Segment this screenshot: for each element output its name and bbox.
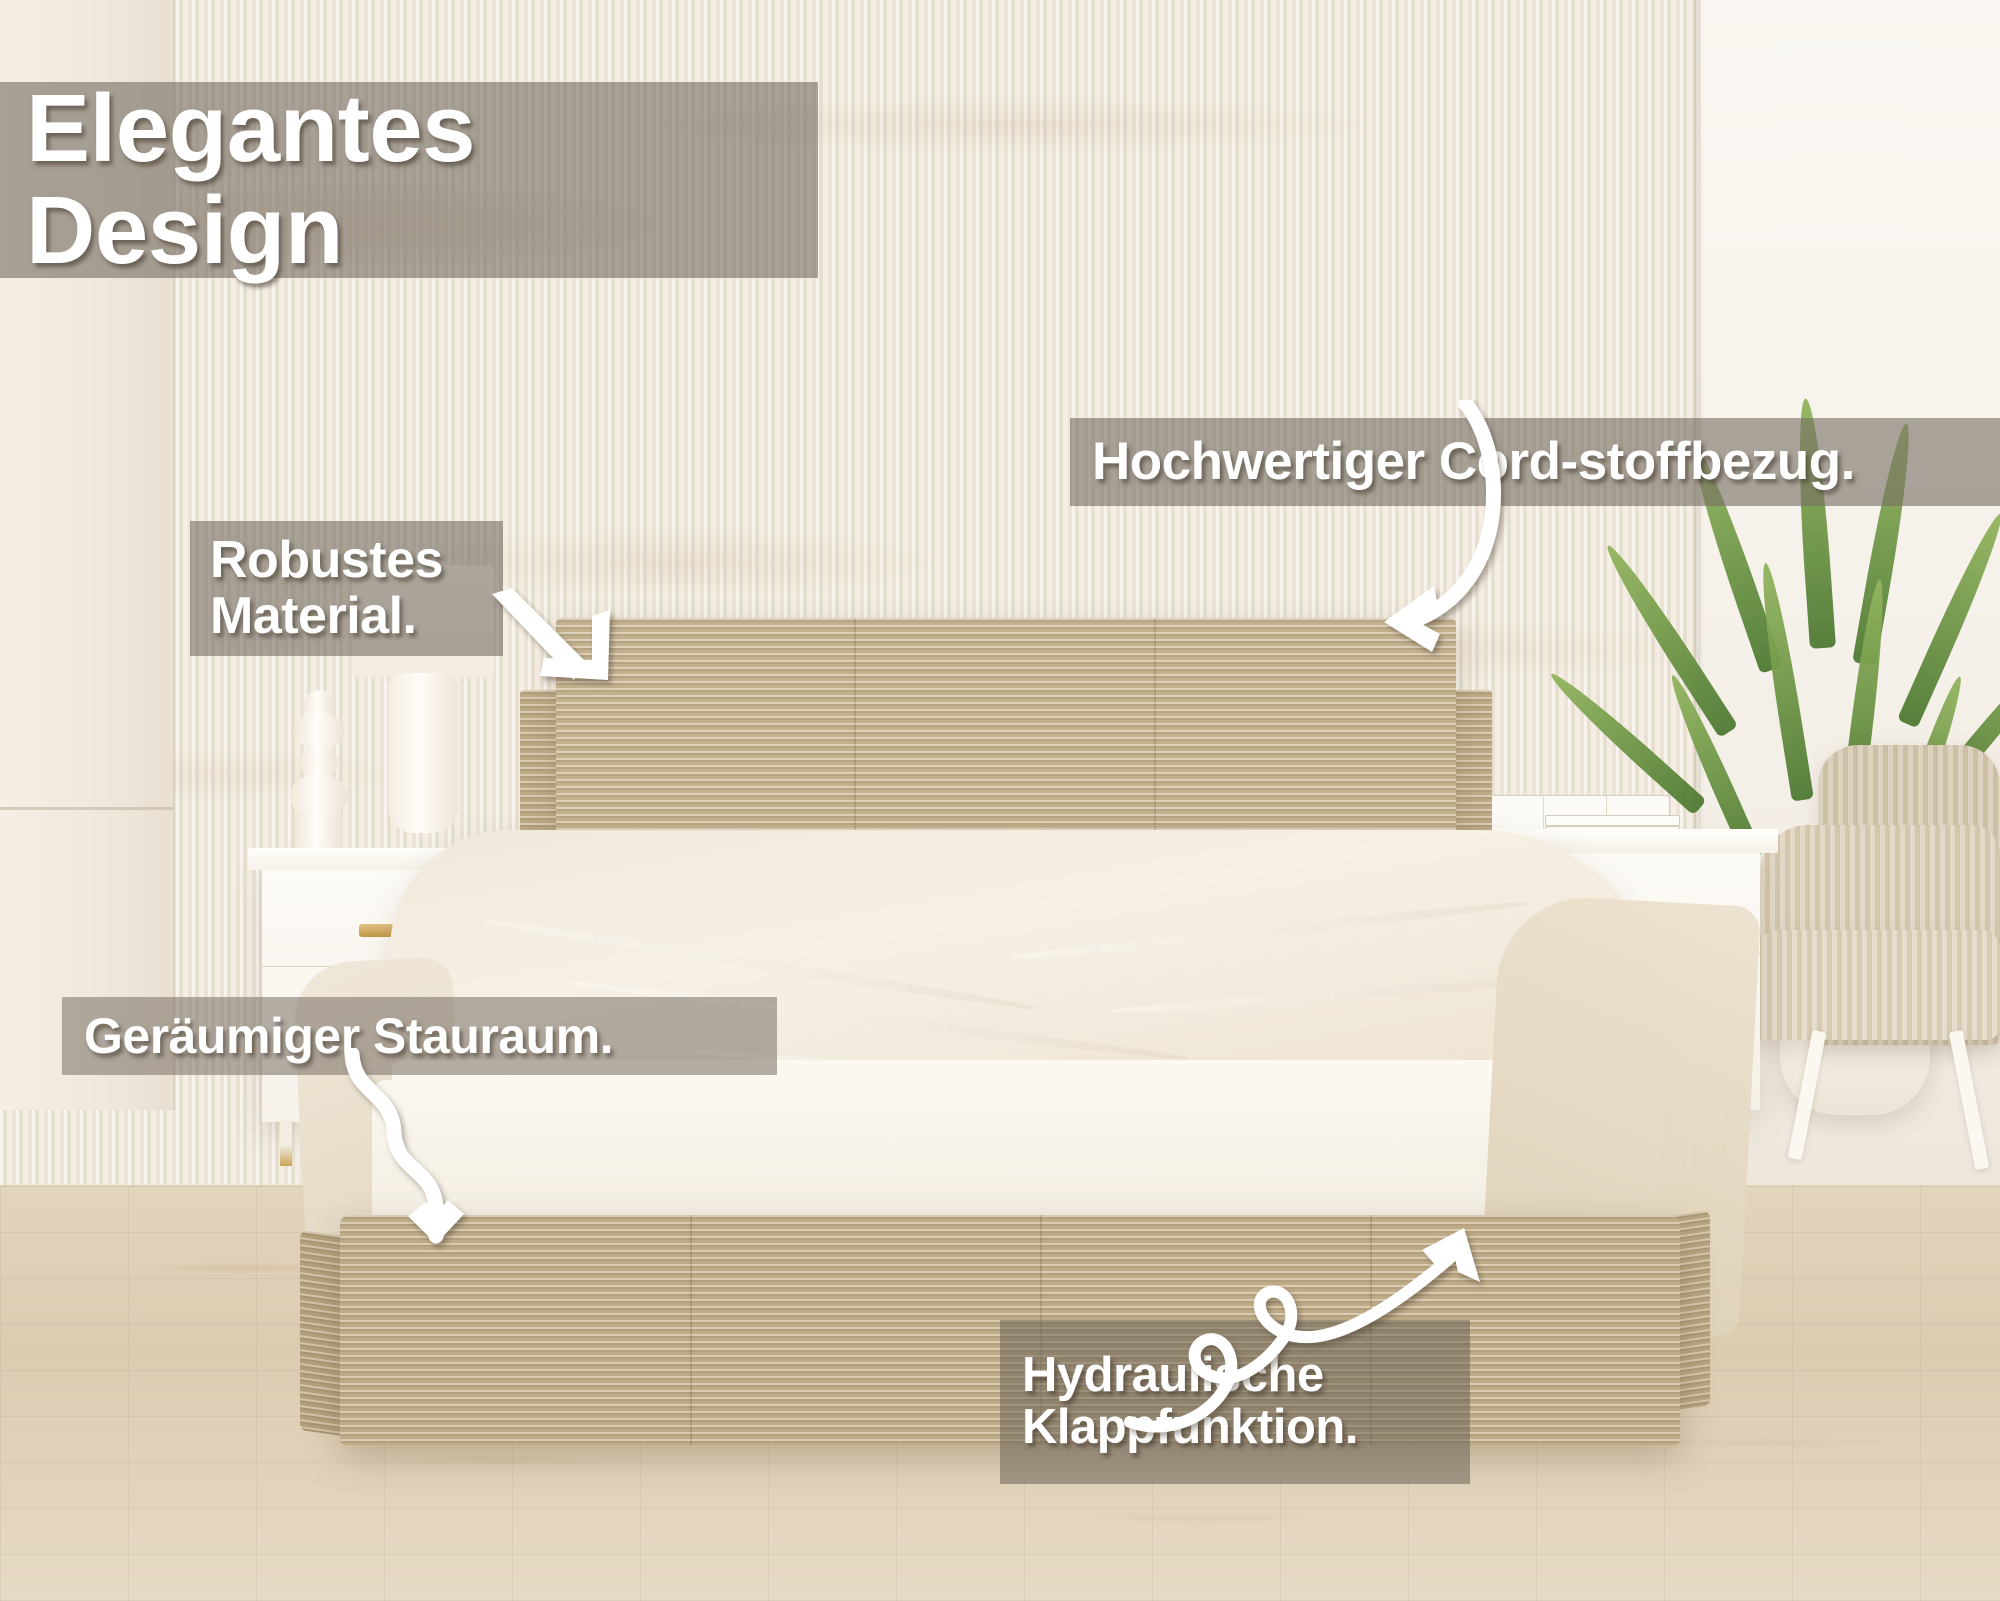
armchair-seat: [1752, 930, 2000, 1040]
headboard-panel: [1156, 618, 1456, 848]
headboard-panel: [856, 618, 1156, 848]
decorative-vase: [288, 690, 350, 850]
base-seam: [690, 1215, 692, 1445]
page-title: Elegantes Design: [26, 78, 818, 282]
label-cord-stoffbezug: Hochwertiger Cord-stoffbezug.: [1092, 434, 1855, 490]
headboard-panel: [556, 618, 856, 848]
banner-geraeumiger-stauraum: Geräumiger Stauraum.: [62, 997, 777, 1075]
banner-hydraulische-klappfunktion: Hydraulische Klappfunktion.: [1000, 1320, 1470, 1484]
banner-elegantes-design: Elegantes Design: [0, 82, 818, 278]
label-hydraulische-klappfunktion: Hydraulische Klappfunktion.: [1022, 1350, 1358, 1454]
lamp-base: [388, 673, 458, 833]
banner-cord-stoffbezug: Hochwertiger Cord-stoffbezug.: [1070, 418, 2000, 506]
label-robustes-material: Robustes Material.: [210, 533, 443, 643]
product-image: Elegantes Design Robustes Material. Hoch…: [0, 0, 2000, 1601]
bed-headboard: [556, 618, 1456, 848]
banner-robustes-material: Robustes Material.: [190, 521, 503, 656]
label-geraeumiger-stauraum: Geräumiger Stauraum.: [84, 1010, 613, 1063]
nightstand-leg: [280, 1120, 292, 1166]
